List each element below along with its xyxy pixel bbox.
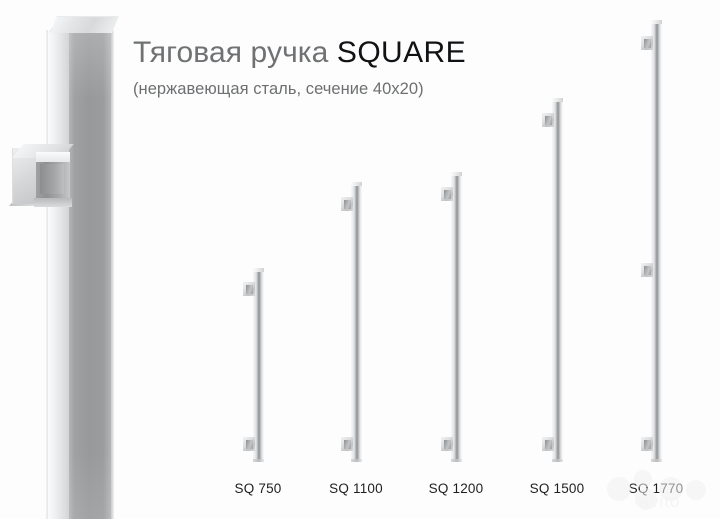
handle-sq-1770 xyxy=(651,20,662,462)
handle-top-face xyxy=(50,16,119,33)
bracket-arm-bottom-face xyxy=(34,198,72,207)
handle-bar xyxy=(451,172,462,462)
handle-label: SQ 750 xyxy=(213,481,303,496)
handle-mount-bracket xyxy=(341,197,353,211)
handle-mount-bracket xyxy=(441,437,453,451)
product-image-canvas: Тяговая ручка SQUARE (нержавеющая сталь,… xyxy=(0,0,720,519)
handle-front-highlight xyxy=(69,30,113,519)
handle-bottom-cap xyxy=(651,459,662,462)
handle-bottom-cap xyxy=(351,459,362,462)
handle-mount-bracket xyxy=(441,187,453,201)
large-handle-illustration xyxy=(0,0,140,519)
handle-mount-bracket xyxy=(641,36,653,50)
handle-mount-bracket xyxy=(243,282,255,296)
handle-mount-inner xyxy=(246,440,253,449)
handle-bottom-cap xyxy=(552,459,563,462)
handle-mount-bracket xyxy=(641,437,653,451)
handle-bar xyxy=(351,182,362,462)
page-subtitle: (нержавеющая сталь, сечение 40x20) xyxy=(133,80,563,99)
handle-mount-inner xyxy=(246,285,253,294)
bracket-arm-top-face xyxy=(36,152,70,162)
handle-mount-inner xyxy=(545,116,552,125)
handle-mount-bracket xyxy=(243,437,255,451)
title-main-text: Тяговая ручка xyxy=(133,36,337,69)
handle-label: SQ 1200 xyxy=(411,481,501,496)
handle-mount-bracket xyxy=(341,437,353,451)
handle-bar xyxy=(253,268,264,462)
bracket-arm-inner xyxy=(40,164,64,194)
handle-label: SQ 1770 xyxy=(611,481,701,496)
handle-top-cap xyxy=(651,20,662,24)
handle-mount-inner xyxy=(644,39,651,48)
handle-sq-1500 xyxy=(552,98,563,462)
handle-mount-inner xyxy=(444,190,451,199)
handle-mount-bracket xyxy=(542,113,554,127)
handle-bar xyxy=(552,98,563,462)
handle-bottom-cap xyxy=(451,459,462,462)
handle-mount-bracket xyxy=(542,437,554,451)
handle-top-cap xyxy=(451,172,462,176)
handle-top-cap xyxy=(351,182,362,186)
handle-bottom-cap xyxy=(253,459,264,462)
handle-left-face xyxy=(48,30,69,519)
handle-sq-750 xyxy=(253,268,264,462)
page-title: Тяговая ручка SQUARE xyxy=(133,36,563,71)
handle-mount-inner xyxy=(344,440,351,449)
handle-mount-inner xyxy=(644,440,651,449)
handle-mount-inner xyxy=(644,266,651,275)
handle-top-cap xyxy=(253,268,264,272)
handle-label: SQ 1100 xyxy=(311,481,401,496)
handle-top-cap xyxy=(552,98,563,102)
handle-sq-1200 xyxy=(451,172,462,462)
handle-sq-1100 xyxy=(351,182,362,462)
handle-label: SQ 1500 xyxy=(512,481,602,496)
heading-block: Тяговая ручка SQUARE (нержавеющая сталь,… xyxy=(133,36,563,99)
handle-mount-bracket xyxy=(641,263,653,277)
handle-mount-inner xyxy=(444,440,451,449)
handle-mount-inner xyxy=(344,200,351,209)
title-brand-text: SQUARE xyxy=(337,36,466,69)
handle-mount-inner xyxy=(545,440,552,449)
handle-right-edge xyxy=(111,30,114,519)
handle-bar xyxy=(651,20,662,462)
